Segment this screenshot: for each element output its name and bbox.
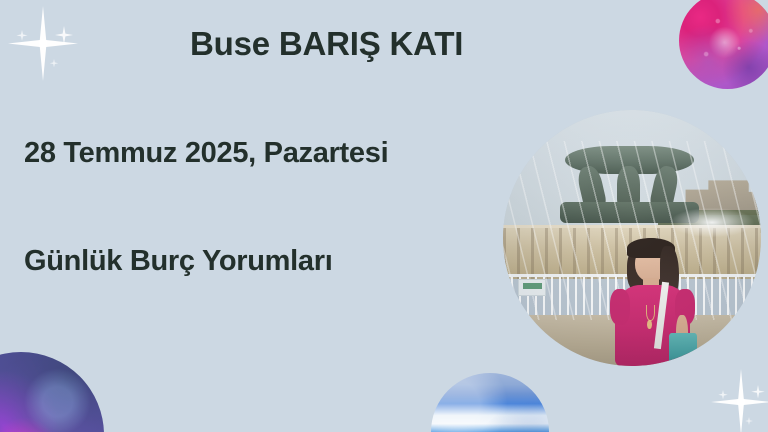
- topic-line: Günlük Burç Yorumları: [24, 245, 332, 278]
- person-figure: [606, 238, 699, 366]
- sleeve: [610, 289, 630, 325]
- water-spray: [668, 207, 756, 238]
- pendant: [647, 320, 652, 329]
- profile-photo: [503, 110, 761, 366]
- watercolor-planet-blue: [431, 373, 549, 432]
- necklace: [646, 305, 655, 321]
- barrier-sign: [518, 279, 546, 296]
- sparkle-icon: [2, 2, 88, 86]
- teal-bag: [669, 333, 697, 366]
- date-line: 28 Temmuz 2025, Pazartesi: [24, 137, 388, 170]
- poster-canvas: Buse BARIŞ KATI 28 Temmuz 2025, Pazartes…: [0, 0, 768, 432]
- watercolor-planet-pink: [679, 0, 768, 89]
- page-title: Buse BARIŞ KATI: [190, 26, 590, 62]
- photo-scene: [503, 110, 761, 366]
- watercolor-planet-nebula: [0, 352, 104, 432]
- sparkle-icon: [697, 361, 768, 432]
